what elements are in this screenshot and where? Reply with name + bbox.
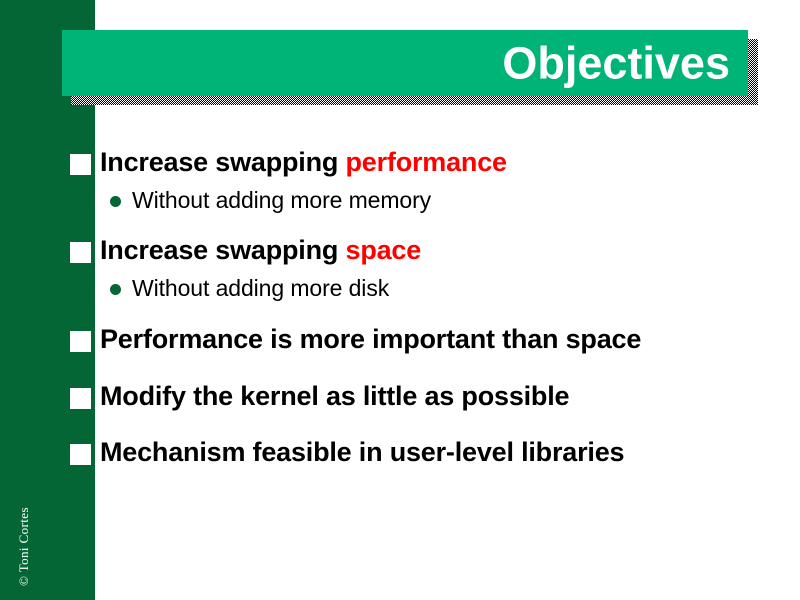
white-square-marker bbox=[70, 444, 91, 465]
bullet-item: Performance is more important than space bbox=[70, 324, 641, 356]
bullet-item: Mechanism feasible in user-level librari… bbox=[70, 437, 624, 469]
sub-bullet-text-segment: Without adding more disk bbox=[132, 275, 389, 301]
bullet-text-highlight: space bbox=[346, 235, 422, 265]
white-square-marker bbox=[70, 388, 91, 409]
sub-bullet-item: Without adding more disk bbox=[110, 275, 389, 302]
bullet-text: Performance is more important than space bbox=[100, 324, 641, 356]
sub-bullet-text: Without adding more disk bbox=[132, 275, 389, 302]
bullet-item: Increase swapping space bbox=[70, 235, 421, 267]
copyright-text: © Toni Cortes bbox=[16, 446, 32, 586]
bullet-text-highlight: performance bbox=[346, 147, 507, 177]
copyright-notice: © Toni Cortes bbox=[0, 452, 60, 592]
presentation-slide: Objectives Increase swapping performance… bbox=[0, 0, 800, 600]
bullet-text-segment: Increase swapping bbox=[100, 147, 346, 177]
white-square-marker bbox=[70, 242, 91, 263]
bullet-text-segment: Performance is more important than space bbox=[100, 324, 641, 354]
sub-bullet-item: Without adding more memory bbox=[110, 187, 431, 214]
bullet-text: Modify the kernel as little as possible bbox=[100, 381, 569, 413]
green-dot-marker bbox=[110, 284, 121, 295]
white-square-marker bbox=[70, 154, 91, 175]
green-dot-marker bbox=[110, 196, 121, 207]
bullet-item: Increase swapping performance bbox=[70, 147, 507, 179]
bullet-text: Increase swapping space bbox=[100, 235, 421, 267]
bullet-text-segment: Modify the kernel as little as possible bbox=[100, 381, 569, 411]
white-square-marker bbox=[70, 331, 91, 352]
bullet-text-segment: Increase swapping bbox=[100, 235, 346, 265]
slide-body: Increase swapping performance Without ad… bbox=[0, 0, 800, 600]
bullet-text: Mechanism feasible in user-level librari… bbox=[100, 437, 624, 469]
bullet-text-segment: Mechanism feasible in user-level librari… bbox=[100, 437, 624, 467]
bullet-item: Modify the kernel as little as possible bbox=[70, 381, 569, 413]
sub-bullet-text: Without adding more memory bbox=[132, 187, 431, 214]
sub-bullet-text-segment: Without adding more memory bbox=[132, 187, 431, 213]
bullet-text: Increase swapping performance bbox=[100, 147, 507, 179]
